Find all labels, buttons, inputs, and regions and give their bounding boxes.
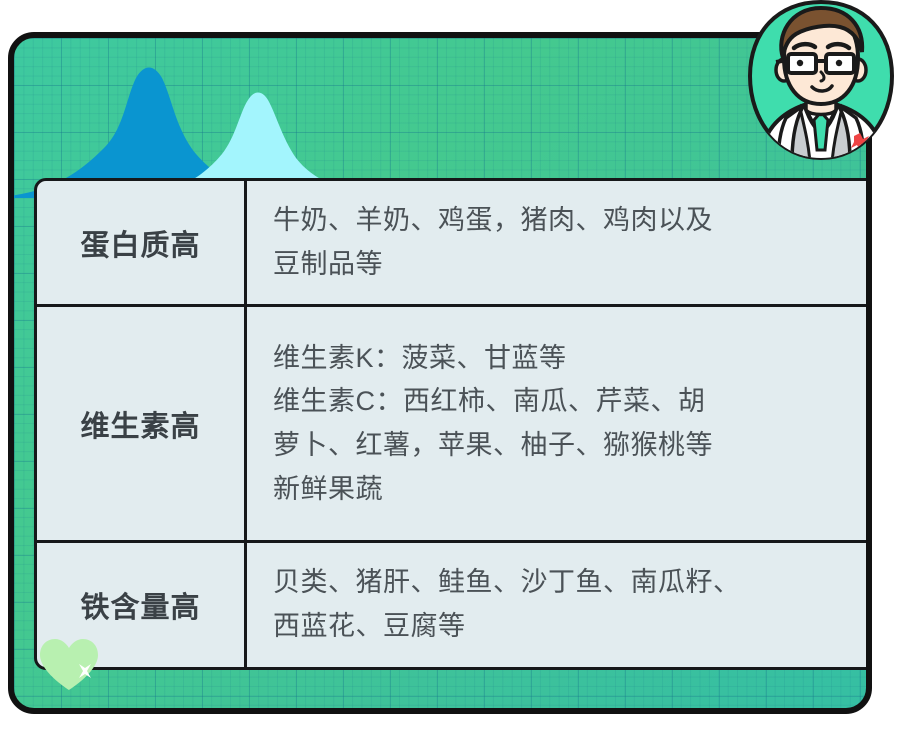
content-line: 维生素K：菠菜、甘蓝等 xyxy=(273,337,713,381)
peak-decoration xyxy=(8,38,464,198)
avatar-eye-right xyxy=(836,60,842,66)
content-line: 贝类、猪肝、鲑鱼、沙丁鱼、南瓜籽、 xyxy=(273,561,741,605)
doctor-avatar xyxy=(742,0,900,162)
table-row: 维生素高 维生素K：菠菜、甘蓝等 维生素C：西红柿、南瓜、芹菜、胡 萝卜、红薯，… xyxy=(37,307,872,543)
table-row-label-cell: 蛋白质高 xyxy=(37,181,247,304)
table-row-content: 牛奶、羊奶、鸡蛋，猪肉、鸡肉以及 豆制品等 xyxy=(273,199,713,286)
table-row: 铁含量高 贝类、猪肝、鲑鱼、沙丁鱼、南瓜籽、 西蓝花、豆腐等 xyxy=(37,543,872,666)
table-row-label: 维生素高 xyxy=(80,403,200,445)
content-line: 西蓝花、豆腐等 xyxy=(273,605,741,649)
heart-with-cross-icon xyxy=(36,636,102,694)
content-line: 萝卜、红薯，苹果、柚子、猕猴桃等 xyxy=(273,424,713,468)
content-line: 维生素C：西红柿、南瓜、芹菜、胡 xyxy=(273,380,713,424)
table-row-content: 贝类、猪肝、鲑鱼、沙丁鱼、南瓜籽、 西蓝花、豆腐等 xyxy=(273,561,741,648)
nutrition-table: 蛋白质高 牛奶、羊奶、鸡蛋，猪肉、鸡肉以及 豆制品等 维生素高 维生素K：菠菜、… xyxy=(34,178,872,670)
heart-shape xyxy=(40,639,98,690)
table-row-content-cell: 维生素K：菠菜、甘蓝等 维生素C：西红柿、南瓜、芹菜、胡 萝卜、红薯，苹果、柚子… xyxy=(247,307,872,540)
table-row-content-cell: 牛奶、羊奶、鸡蛋，猪肉、鸡肉以及 豆制品等 xyxy=(247,181,872,304)
poster-stage: 蛋白质高 牛奶、羊奶、鸡蛋，猪肉、鸡肉以及 豆制品等 维生素高 维生素K：菠菜、… xyxy=(0,0,900,736)
content-line: 新鲜果蔬 xyxy=(273,468,713,512)
table-row-label: 蛋白质高 xyxy=(80,222,200,264)
table-row-label-cell: 维生素高 xyxy=(37,307,247,540)
avatar-eye-left xyxy=(797,60,803,66)
table-row-label: 铁含量高 xyxy=(80,584,200,626)
table-row-content: 维生素K：菠菜、甘蓝等 维生素C：西红柿、南瓜、芹菜、胡 萝卜、红薯，苹果、柚子… xyxy=(273,337,713,512)
avatar-glasses-temple xyxy=(776,60,788,62)
content-line: 豆制品等 xyxy=(273,243,713,287)
avatar-tie xyxy=(814,112,828,150)
content-line: 牛奶、羊奶、鸡蛋，猪肉、鸡肉以及 xyxy=(273,199,713,243)
table-row: 蛋白质高 牛奶、羊奶、鸡蛋，猪肉、鸡肉以及 豆制品等 xyxy=(37,181,872,307)
table-row-content-cell: 贝类、猪肝、鲑鱼、沙丁鱼、南瓜籽、 西蓝花、豆腐等 xyxy=(247,543,872,666)
